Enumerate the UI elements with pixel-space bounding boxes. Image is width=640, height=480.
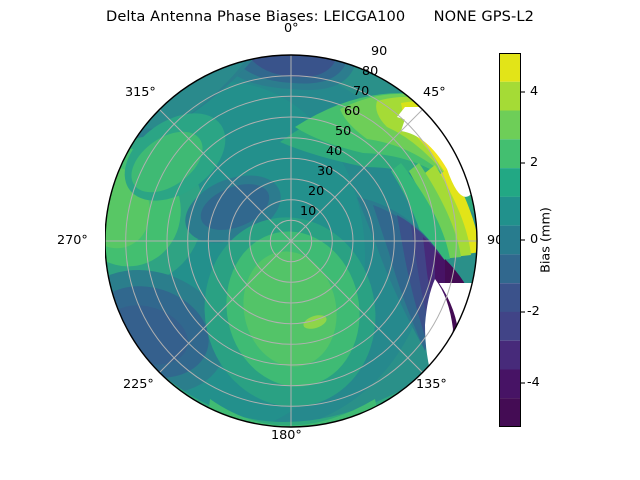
- colorbar-axis-label: Bias (mm): [539, 207, 554, 273]
- radial-tick-10: 10: [300, 204, 316, 219]
- angular-tick-0: 0°: [284, 21, 299, 36]
- figure-canvas: Delta Antenna Phase Biases: LEICGA100 NO…: [0, 0, 640, 480]
- polar-grid-spokes: [105, 55, 477, 427]
- colorbar-gradient: [499, 53, 521, 427]
- radial-tick-60: 60: [344, 104, 360, 119]
- radial-tick-90: 90: [371, 44, 387, 59]
- colorbar-tick-4: 4: [530, 84, 538, 99]
- page-title: Delta Antenna Phase Biases: LEICGA100 NO…: [0, 8, 640, 25]
- angular-tick-270: 270°: [57, 233, 88, 248]
- angular-tick-315: 315°: [125, 85, 156, 100]
- radial-tick-20: 20: [308, 184, 324, 199]
- angular-tick-180: 180°: [271, 428, 302, 443]
- polar-axes: 0° 45° 90 135° 180° 225° 270° 315° 10 20…: [105, 47, 493, 435]
- radial-tick-40: 40: [326, 144, 342, 159]
- radial-tick-70: 70: [353, 84, 369, 99]
- colorbar-tick-2: 2: [530, 155, 538, 170]
- radial-tick-30: 30: [317, 164, 333, 179]
- colorbar-tick-neg4: -4: [527, 375, 540, 390]
- colorbar-bands: [499, 53, 521, 427]
- angular-tick-45: 45°: [423, 85, 446, 100]
- angular-tick-225: 225°: [123, 377, 154, 392]
- radial-tick-80: 80: [362, 64, 378, 79]
- colorbar-tick-neg2: -2: [527, 304, 540, 319]
- colorbar: 4 2 0 -2 -4: [499, 53, 521, 427]
- colorbar-tick-0: 0: [530, 232, 538, 247]
- radial-tick-50: 50: [335, 124, 351, 139]
- angular-tick-135: 135°: [416, 377, 447, 392]
